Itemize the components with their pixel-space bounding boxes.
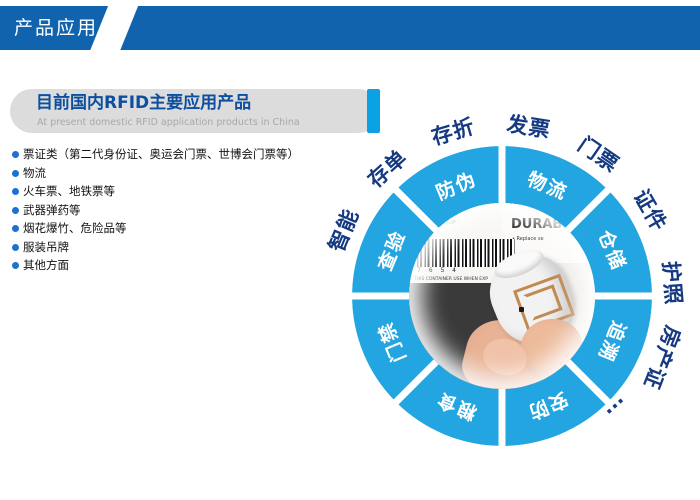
- wheel-outer-label-7: 护照: [657, 259, 690, 305]
- list-item-label: 物流: [23, 167, 46, 180]
- list-item-label: 其他方面: [23, 259, 69, 272]
- page-title: 产品应用: [14, 17, 98, 39]
- list-item: 服装吊牌: [12, 241, 362, 255]
- wheel-outer-label-4: 发票: [505, 108, 553, 145]
- bullet-dot-icon: [12, 188, 19, 195]
- bullet-dot-icon: [12, 244, 19, 251]
- center-photo: ...EDY GROUP 7 6 5 4 THIS CONTAINER USE …: [409, 203, 595, 389]
- bullet-dot-icon: [12, 170, 19, 177]
- application-list: 票证类（第二代身份证、奥运会门票、世博会门票等）物流火车票、地铁票等武器弹药等烟…: [12, 148, 362, 278]
- bullet-dot-icon: [12, 207, 19, 214]
- bullet-dot-icon: [12, 151, 19, 158]
- bullet-dot-icon: [12, 262, 19, 269]
- list-item-label: 武器弹药等: [23, 204, 81, 217]
- section-title-accent-bar: [367, 89, 380, 133]
- list-item-label: 票证类（第二代身份证、奥运会门票、世博会门票等）: [23, 148, 299, 161]
- list-item-label: 烟花爆竹、危险品等: [23, 222, 127, 235]
- list-item: 其他方面: [12, 259, 362, 273]
- list-item-label: 服装吊牌: [23, 241, 69, 254]
- list-item-label: 火车票、地铁票等: [23, 185, 115, 198]
- list-item: 票证类（第二代身份证、奥运会门票、世博会门票等）: [12, 148, 362, 162]
- list-item: 火车票、地铁票等: [12, 185, 362, 199]
- bullet-dot-icon: [12, 225, 19, 232]
- list-item: 武器弹药等: [12, 204, 362, 218]
- section-title-cn: 目前国内RFID主要应用产品: [36, 92, 251, 114]
- list-item: 烟花爆竹、危险品等: [12, 222, 362, 236]
- photo-vignette: [409, 203, 595, 389]
- section-title-en: At present domestic RFID application pro…: [37, 116, 300, 129]
- header-band: 产品应用: [0, 6, 700, 50]
- rfid-application-wheel: 物流仓储追溯安防粮食门禁查验防伪 智能存单存折发票门票证件护照房产证 ... .…: [352, 146, 652, 446]
- list-item: 物流: [12, 167, 362, 181]
